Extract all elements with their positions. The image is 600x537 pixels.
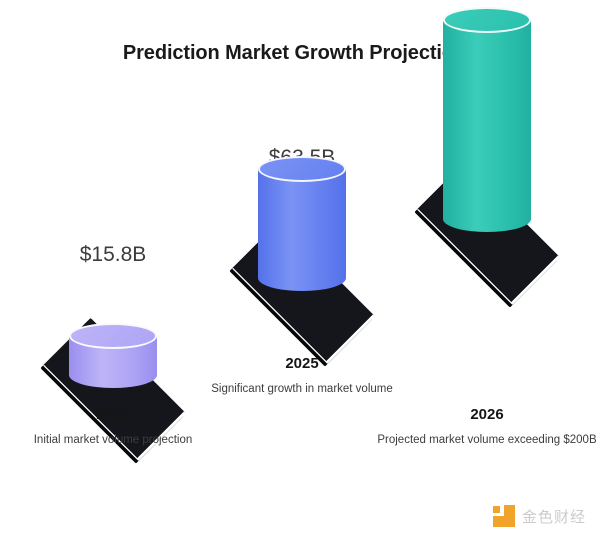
bar-group-2024: $15.8B [13,240,213,270]
cylinder-body-2026 [443,20,531,232]
caption-desc-2026: Projected market volume exceeding $200B [377,432,597,448]
caption-2024: 2024 Initial market volume projection [3,406,223,448]
caption-desc-2025: Significant growth in market volume [192,381,412,397]
bar-group-2025: $63.5B [202,143,402,173]
cylinder-top-2025 [258,156,346,182]
watermark: 金色财经 [493,505,586,527]
cylinder-top-2026 [443,7,531,33]
caption-desc-2024: Initial market volume projection [3,432,223,448]
chart-stage: $15.8B $63.5B $200+B [0,0,600,537]
bar-group-2026: $200+B [387,84,587,114]
watermark-text: 金色财经 [522,506,586,527]
value-label-2024: $15.8B [13,240,213,270]
caption-2025: 2025 Significant growth in market volume [192,355,412,397]
caption-year-2025: 2025 [192,355,412,372]
cylinder-top-2024 [69,323,157,349]
caption-year-2026: 2026 [377,406,597,423]
caption-year-2024: 2024 [3,406,223,423]
cylinder-body-2025 [258,169,346,291]
jinse-logo-icon [493,505,515,527]
caption-2026: 2026 Projected market volume exceeding $… [377,406,597,448]
